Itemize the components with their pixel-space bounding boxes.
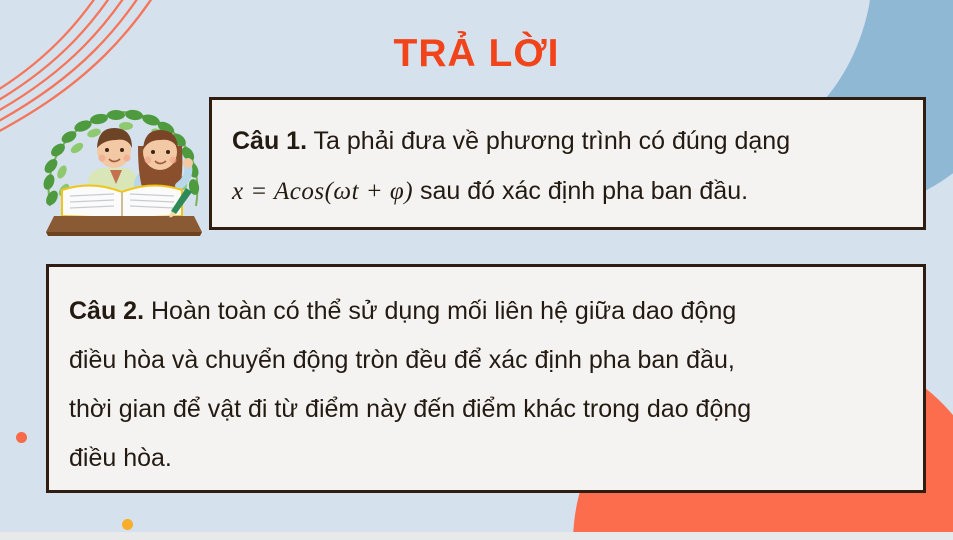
answer-2-line-3: thời gian để vật đi từ điểm này đến điểm… (69, 385, 907, 434)
two-children-reading-book-illustration (36, 88, 212, 236)
answer-box-cau-1: Câu 1. Ta phải đưa về phương trình có đú… (209, 97, 926, 230)
decorative-dot-yellow (122, 519, 133, 530)
answer-box-cau-2: Câu 2. Hoàn toàn có thể sử dụng mối liên… (46, 264, 926, 493)
answer-1-line-1: Câu 1. Ta phải đưa về phương trình có đú… (232, 116, 907, 166)
answer-2-line-4: điều hòa. (69, 434, 907, 483)
answer-1-text-1: Ta phải đưa về phương trình có đúng dạng (314, 127, 791, 155)
answer-1-formula: x = Acos(ωt + φ) (232, 178, 413, 205)
answer-1-label: Câu 1. (232, 127, 307, 155)
slide-canvas: TRẢ LỜI Câu 1. Ta phải đưa về phương trì… (0, 0, 953, 540)
answer-1-line-2: x = Acos(ωt + φ) sau đó xác định pha ban… (232, 166, 907, 217)
decorative-dot-orange (16, 432, 27, 443)
bottom-edge-strip (0, 532, 953, 540)
answer-2-label: Câu 2. (69, 297, 144, 325)
answer-1-text-2: sau đó xác định pha ban đầu. (420, 177, 748, 205)
page-title: TRẢ LỜI (0, 32, 953, 76)
answer-2-line-2: điều hòa và chuyển động tròn đều để xác … (69, 336, 907, 385)
answer-2-text-1: Hoàn toàn có thể sử dụng mối liên hệ giữ… (151, 297, 736, 325)
desk-icon (46, 216, 202, 236)
answer-2-line-1: Câu 2. Hoàn toàn có thể sử dụng mối liên… (69, 287, 907, 336)
